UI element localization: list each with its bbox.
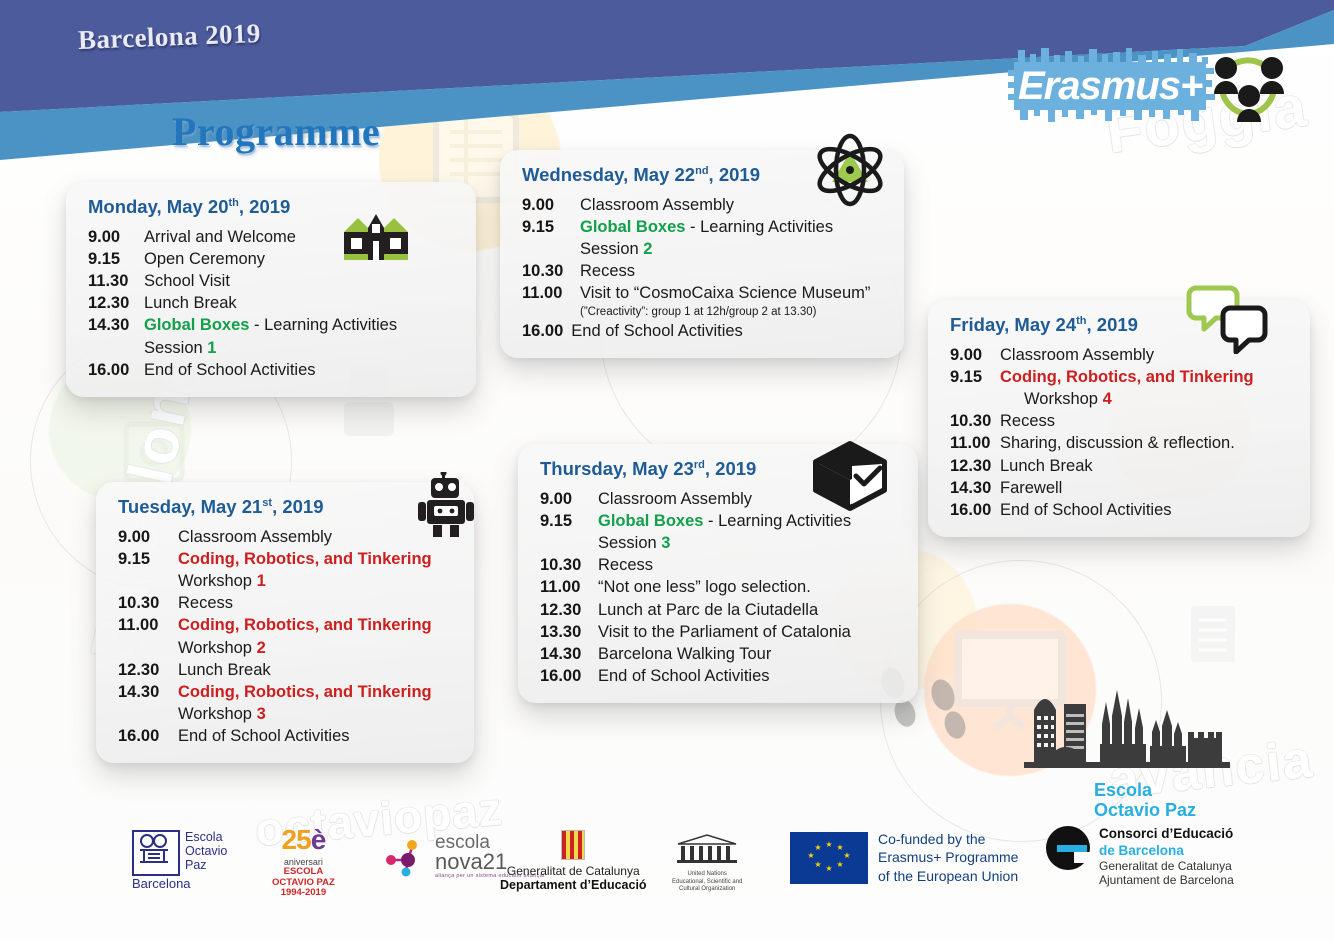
schedule-row: 11.00Sharing, discussion & reflection. bbox=[950, 432, 1290, 454]
row-cont-num: 3 bbox=[661, 534, 670, 552]
anniversary-years: 1994-2019 bbox=[272, 888, 335, 899]
schedule-row: 16.00End of School Activities bbox=[522, 320, 884, 342]
schedule-row: 9.15Global Boxes - Learning Activities bbox=[540, 510, 898, 532]
day-ordinal: st bbox=[262, 497, 272, 509]
row-text: Lunch Break bbox=[178, 659, 271, 681]
row-text: End of School Activities bbox=[571, 320, 743, 342]
svg-text:★: ★ bbox=[825, 864, 832, 873]
logo-line: Paz bbox=[185, 858, 227, 872]
schedule-row: 16.00End of School Activities bbox=[88, 359, 456, 381]
schedule-row: 10.30Recess bbox=[522, 260, 884, 282]
row-time: 14.30 bbox=[540, 643, 598, 665]
logo-unesco: United Nations Educational, Scientific a… bbox=[672, 832, 742, 894]
svg-text:★: ★ bbox=[836, 860, 843, 869]
row-time: 12.30 bbox=[118, 659, 178, 681]
row-time: 9.00 bbox=[88, 226, 144, 248]
logo-line: of the European Union bbox=[878, 867, 1018, 885]
schedule-row: 14.30Coding, Robotics, and Tinkering bbox=[118, 681, 454, 703]
open-box-icon bbox=[812, 440, 888, 512]
day-year: , 2019 bbox=[239, 196, 290, 217]
day-ordinal: th bbox=[229, 197, 239, 209]
row-text: Farewell bbox=[1000, 477, 1062, 499]
logo-line: Co-funded by the bbox=[878, 830, 1018, 848]
logo-generalitat: Generalitat de Catalunya Departament d’E… bbox=[500, 830, 647, 892]
row-highlight: Global Boxes bbox=[144, 316, 249, 334]
row-rest: - Learning Activities bbox=[703, 512, 851, 530]
day-weekday: Friday, May 24 bbox=[950, 314, 1076, 335]
schedule-row: 11.00Coding, Robotics, and Tinkering bbox=[118, 614, 454, 636]
schedule-row: 13.30Visit to the Parliament of Cataloni… bbox=[540, 621, 898, 643]
schedule-row: 14.30Global Boxes - Learning Activities bbox=[88, 314, 456, 336]
day-title-tuesday: Tuesday, May 21st, 2019 bbox=[118, 496, 454, 518]
row-time: 10.30 bbox=[540, 554, 598, 576]
logo-line: Educational, Scientific and bbox=[672, 879, 742, 887]
row-text: Lunch at Parc de la Ciutadella bbox=[598, 599, 818, 621]
catalonia-flag-icon bbox=[561, 830, 585, 860]
poster-canvas: Foggia Barcelona octaviopaz avancia Barc… bbox=[0, 0, 1334, 941]
row-time: 12.30 bbox=[950, 455, 1000, 477]
row-text: Visit to “CosmoCaixa Science Museum” bbox=[580, 282, 870, 304]
schedule-row: 9.00Classroom Assembly bbox=[118, 526, 454, 548]
schedule-rows: 9.00Classroom Assembly 9.15Coding, Robot… bbox=[118, 526, 454, 747]
row-time: 12.30 bbox=[540, 599, 598, 621]
row-cont-text: Workshop bbox=[178, 639, 257, 657]
barcelona-skyline-icon bbox=[1016, 676, 1238, 772]
escola-octavio-paz-mark-icon bbox=[132, 830, 180, 876]
row-cont-text: Workshop bbox=[1024, 390, 1103, 408]
row-text: Barcelona Walking Tour bbox=[598, 643, 771, 665]
logo-line: United Nations bbox=[672, 871, 742, 879]
row-text: End of School Activities bbox=[598, 665, 770, 687]
day-year: , 2019 bbox=[272, 496, 323, 517]
row-time: 16.00 bbox=[522, 320, 563, 342]
logo-line: Octavio Paz bbox=[1094, 800, 1234, 820]
row-text: Visit to the Parliament of Catalonia bbox=[598, 621, 851, 643]
robot-icon bbox=[418, 472, 474, 538]
schedule-row: 11.00“Not one less” logo selection. bbox=[540, 576, 898, 598]
row-text: Global Boxes - Learning Activities bbox=[580, 216, 833, 238]
row-cont-num: 2 bbox=[257, 639, 266, 657]
row-text: Recess bbox=[598, 554, 653, 576]
day-ordinal: nd bbox=[695, 165, 708, 177]
schedule-row-cont: Workshop 4 bbox=[950, 388, 1290, 410]
row-time: 11.00 bbox=[522, 282, 580, 304]
anniversary-number: 25è bbox=[272, 824, 335, 856]
row-time: 9.15 bbox=[950, 366, 1000, 388]
row-text: Recess bbox=[1000, 410, 1055, 432]
row-highlight: Global Boxes bbox=[580, 218, 685, 236]
svg-text:★: ★ bbox=[814, 843, 821, 852]
row-text: End of School Activities bbox=[144, 359, 316, 381]
row-highlight: Coding, Robotics, and Tinkering bbox=[178, 548, 432, 570]
schedule-row: 9.15Coding, Robotics, and Tinkering bbox=[950, 366, 1290, 388]
anniversary-school-text: ESCOLA OCTAVIO PAZ bbox=[272, 866, 335, 888]
row-time: 16.00 bbox=[950, 499, 1000, 521]
erasmus-wordmark: Erasmus+ bbox=[1008, 62, 1212, 111]
row-text: Classroom Assembly bbox=[178, 526, 332, 548]
logo-consorci-educacio: Escola Octavio Paz Consorci d’Educació d… bbox=[1046, 780, 1234, 888]
ghost-news-icon bbox=[1185, 600, 1241, 668]
row-time: 11.00 bbox=[118, 614, 178, 636]
row-text: End of School Activities bbox=[1000, 499, 1172, 521]
row-time: 9.00 bbox=[540, 488, 598, 510]
day-year: , 2019 bbox=[709, 164, 760, 185]
row-time: 9.15 bbox=[118, 548, 178, 570]
row-text: End of School Activities bbox=[178, 725, 350, 747]
row-time: 10.30 bbox=[950, 410, 1000, 432]
day-weekday: Wednesday, May 22 bbox=[522, 164, 695, 185]
logo-line: Ajuntament de Barcelona bbox=[1099, 873, 1234, 888]
anniversary-accent: è bbox=[311, 824, 326, 855]
day-ordinal: th bbox=[1076, 315, 1086, 327]
row-cont: Session 1 bbox=[144, 337, 216, 359]
escola-octavio-paz-text: Escola Octavio Paz bbox=[185, 830, 227, 872]
row-cont: Workshop 2 bbox=[178, 637, 266, 659]
row-cont: Workshop 4 bbox=[1024, 388, 1112, 410]
row-time: 14.30 bbox=[88, 314, 144, 336]
row-cont-text: Session bbox=[580, 240, 643, 258]
consorci-school-name: Escola Octavio Paz bbox=[1094, 780, 1234, 820]
row-time: 10.30 bbox=[118, 592, 178, 614]
logo-line: Consorci d’Educació bbox=[1099, 826, 1234, 842]
row-cont-text: Session bbox=[598, 534, 661, 552]
schedule-rows: 9.00Classroom Assembly 9.15Global Boxes … bbox=[540, 488, 898, 687]
svg-text:★: ★ bbox=[814, 860, 821, 869]
schedule-row: 9.15Coding, Robotics, and Tinkering bbox=[118, 548, 454, 570]
row-cont: Workshop 1 bbox=[178, 570, 266, 592]
row-text: Global Boxes - Learning Activities bbox=[598, 510, 851, 532]
schedule-row: 10.30Recess bbox=[118, 592, 454, 614]
eu-funding-text: Co-funded by the Erasmus+ Programme of t… bbox=[878, 830, 1018, 885]
school-building-icon bbox=[340, 208, 412, 270]
row-highlight: Coding, Robotics, and Tinkering bbox=[178, 614, 432, 636]
row-cont-text: Session bbox=[144, 339, 207, 357]
logo-25-anniversary: 25è aniversari ESCOLA OCTAVIO PAZ 1994-2… bbox=[272, 824, 335, 899]
schedule-row: 11.30School Visit bbox=[88, 270, 456, 292]
row-time: 9.00 bbox=[118, 526, 178, 548]
anniversary-school: ESCOLA OCTAVIO PAZ bbox=[272, 867, 335, 888]
schedule-row-cont: Session 2 bbox=[522, 238, 884, 260]
row-cont-num: 2 bbox=[643, 240, 652, 258]
day-year: , 2019 bbox=[1087, 314, 1138, 335]
row-time: 16.00 bbox=[118, 725, 178, 747]
logo-escola-octavio-paz: Escola Octavio Paz Barcelona bbox=[132, 830, 227, 876]
schedule-rows: 9.00Classroom Assembly 9.15Coding, Robot… bbox=[950, 344, 1290, 521]
row-time: 9.00 bbox=[950, 344, 1000, 366]
row-time: 14.30 bbox=[950, 477, 1000, 499]
row-text: Recess bbox=[580, 260, 635, 282]
day-card-monday: Monday, May 20th, 2019 9.00Arrival and W… bbox=[66, 182, 476, 397]
page-title: Programme bbox=[172, 108, 380, 155]
atom-icon bbox=[810, 130, 890, 210]
row-text: Lunch Break bbox=[1000, 455, 1093, 477]
logo-line: de Barcelona bbox=[1099, 843, 1234, 859]
row-text: School Visit bbox=[144, 270, 230, 292]
row-time: 9.15 bbox=[522, 216, 580, 238]
schedule-row: 11.00Visit to “CosmoCaixa Science Museum… bbox=[522, 282, 884, 304]
row-highlight: Coding, Robotics, and Tinkering bbox=[1000, 366, 1254, 388]
logo-line: Cultural Organization bbox=[672, 886, 742, 894]
row-time: 9.00 bbox=[522, 194, 580, 216]
row-text: Sharing, discussion & reflection. bbox=[1000, 432, 1235, 454]
schedule-row: 16.00End of School Activities bbox=[118, 725, 454, 747]
schedule-row-cont: Workshop 1 bbox=[118, 570, 454, 592]
anniversary-num: 25 bbox=[282, 824, 311, 855]
schedule-row: 12.30Lunch at Parc de la Ciutadella bbox=[540, 599, 898, 621]
day-weekday: Monday, May 20 bbox=[88, 196, 229, 217]
row-time: 11.00 bbox=[540, 576, 598, 598]
people-group-icon bbox=[1214, 57, 1284, 122]
row-time: 14.30 bbox=[118, 681, 178, 703]
day-weekday: Thursday, May 23 bbox=[540, 458, 694, 479]
row-text: Arrival and Welcome bbox=[144, 226, 296, 248]
footer-logo-strip: Escola Octavio Paz Barcelona 25è anivers… bbox=[0, 812, 1334, 912]
row-text: Recess bbox=[178, 592, 233, 614]
logo-city: Barcelona bbox=[132, 876, 191, 891]
schedule-row: 9.15Global Boxes - Learning Activities bbox=[522, 216, 884, 238]
row-time: 9.15 bbox=[540, 510, 598, 532]
schedule-row: 16.00End of School Activities bbox=[950, 499, 1290, 521]
nova-word: nova bbox=[435, 849, 483, 874]
logo-line: Departament d’Educació bbox=[500, 878, 647, 892]
consorci-body: Consorci d’Educació de Barcelona General… bbox=[1046, 826, 1234, 888]
eu-flag-icon: ★ ★ ★ ★ ★ ★ ★ ★ bbox=[790, 832, 868, 884]
schedule-row-cont: Session 1 bbox=[88, 337, 456, 359]
schedule-row: 10.30Recess bbox=[540, 554, 898, 576]
row-time: 13.30 bbox=[540, 621, 598, 643]
row-note: (”Creactivity”: group 1 at 12h/group 2 a… bbox=[580, 305, 817, 320]
svg-text:★: ★ bbox=[825, 840, 832, 849]
row-cont-num: 3 bbox=[257, 705, 266, 723]
consorci-e-mark-icon bbox=[1046, 826, 1090, 870]
schedule-row: 12.30Lunch Break bbox=[88, 292, 456, 314]
schedule-row: 10.30Recess bbox=[950, 410, 1290, 432]
erasmus-plus-logo: Erasmus+ bbox=[1008, 48, 1308, 140]
row-cont-num: 1 bbox=[257, 572, 266, 590]
row-time: 12.30 bbox=[88, 292, 144, 314]
row-rest: - Learning Activities bbox=[685, 218, 833, 236]
row-text: Lunch Break bbox=[144, 292, 237, 314]
row-cont-text: Workshop bbox=[178, 705, 257, 723]
day-weekday: Tuesday, May 21 bbox=[118, 496, 262, 517]
svg-text:★: ★ bbox=[843, 851, 850, 860]
svg-text:★: ★ bbox=[807, 851, 814, 860]
schedule-row-cont: Workshop 3 bbox=[118, 703, 454, 725]
row-highlight: Coding, Robotics, and Tinkering bbox=[178, 681, 432, 703]
row-time: 16.00 bbox=[88, 359, 144, 381]
logo-line: Generalitat de Catalunya bbox=[500, 864, 647, 878]
logo-line: Erasmus+ Programme bbox=[878, 848, 1018, 866]
speech-bubbles-icon bbox=[1186, 282, 1270, 354]
schedule-row: 14.30Barcelona Walking Tour bbox=[540, 643, 898, 665]
day-ordinal: rd bbox=[694, 459, 705, 471]
schedule-row: 12.30Lunch Break bbox=[950, 455, 1290, 477]
logo-line: Generalitat de Catalunya bbox=[1099, 859, 1234, 874]
schedule-rows: 9.00Classroom Assembly 9.15Global Boxes … bbox=[522, 194, 884, 342]
escola-nova-molecule-icon bbox=[382, 835, 428, 879]
row-cont: Session 3 bbox=[598, 532, 670, 554]
row-rest: - Learning Activities bbox=[249, 316, 397, 334]
row-time: 16.00 bbox=[540, 665, 598, 687]
unesco-temple-icon bbox=[672, 832, 742, 866]
row-time: 10.30 bbox=[522, 260, 580, 282]
logo-line: Escola bbox=[1094, 780, 1234, 800]
schedule-row-cont: Session 3 bbox=[540, 532, 898, 554]
schedule-row: 14.30Farewell bbox=[950, 477, 1290, 499]
consorci-text: Consorci d’Educació de Barcelona General… bbox=[1099, 826, 1234, 888]
schedule-row: 16.00End of School Activities bbox=[540, 665, 898, 687]
row-cont-num: 1 bbox=[207, 339, 216, 357]
schedule-row-cont: Workshop 2 bbox=[118, 637, 454, 659]
row-highlight: Global Boxes bbox=[598, 512, 703, 530]
row-text: Classroom Assembly bbox=[1000, 344, 1154, 366]
row-cont: Workshop 3 bbox=[178, 703, 266, 725]
row-time: 11.00 bbox=[950, 432, 1000, 454]
logo-european-union: ★ ★ ★ ★ ★ ★ ★ ★ Co-funded by the Erasmus… bbox=[790, 830, 1018, 885]
row-time: 9.15 bbox=[88, 248, 144, 270]
day-year: , 2019 bbox=[705, 458, 756, 479]
logo-line: Octavio bbox=[185, 844, 227, 858]
row-text: Global Boxes - Learning Activities bbox=[144, 314, 397, 336]
row-cont-num: 4 bbox=[1103, 390, 1112, 408]
logo-line: Escola bbox=[185, 830, 227, 844]
row-cont: Session 2 bbox=[580, 238, 652, 260]
row-cont-text: Workshop bbox=[178, 572, 257, 590]
row-time: 11.30 bbox=[88, 270, 144, 292]
row-text: Open Ceremony bbox=[144, 248, 265, 270]
row-text: Classroom Assembly bbox=[598, 488, 752, 510]
row-text: Classroom Assembly bbox=[580, 194, 734, 216]
schedule-row: 12.30Lunch Break bbox=[118, 659, 454, 681]
row-text: “Not one less” logo selection. bbox=[598, 576, 811, 598]
schedule-row-note: (”Creactivity”: group 1 at 12h/group 2 a… bbox=[522, 305, 884, 320]
